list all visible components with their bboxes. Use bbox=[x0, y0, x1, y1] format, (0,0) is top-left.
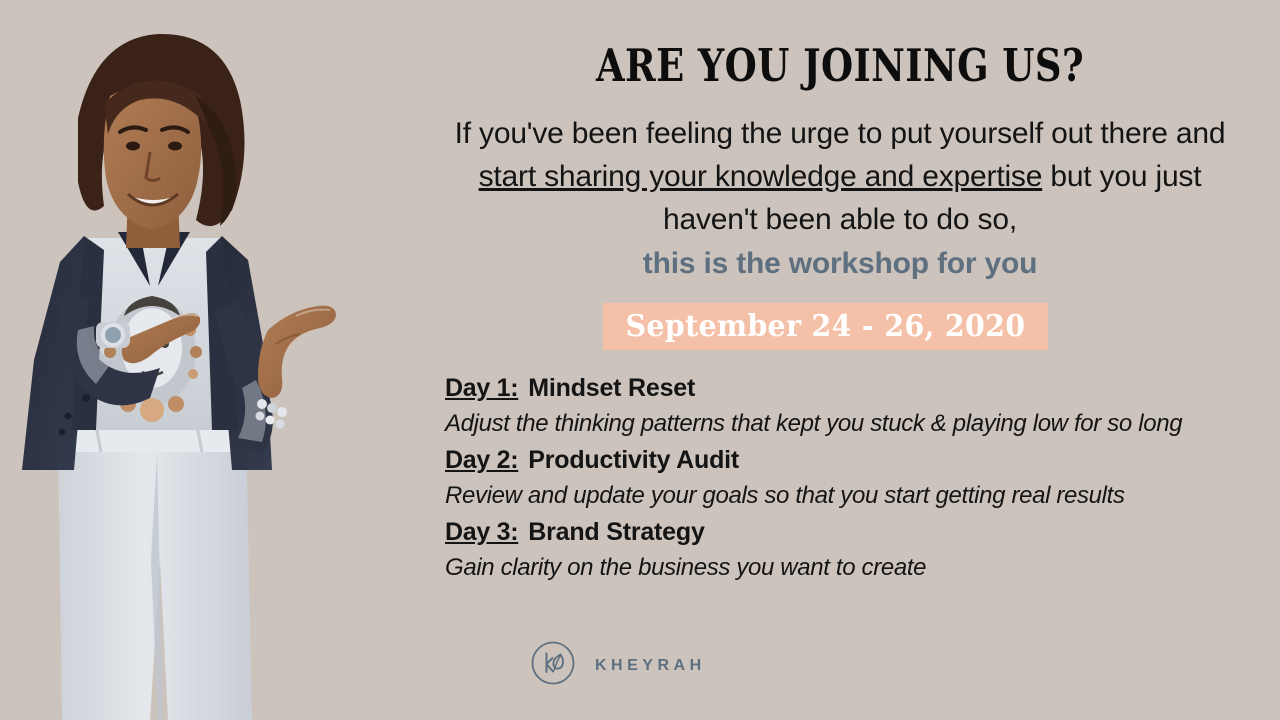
agenda-day-label: Day 2: bbox=[445, 446, 518, 474]
slide-content: ARE YOU JOINING US? If you've been feeli… bbox=[400, 0, 1280, 720]
intro-text-part1: If you've been feeling the urge to put y… bbox=[455, 117, 1226, 150]
date-banner-text: September 24 - 26, 2020 bbox=[626, 309, 1026, 344]
speaker-photo-illustration bbox=[0, 0, 400, 720]
agenda-day2-description: Review and update your goals so that you… bbox=[445, 478, 1280, 514]
agenda-day-title: Brand Strategy bbox=[528, 518, 704, 546]
page-title: ARE YOU JOINING US? bbox=[479, 42, 1201, 89]
promo-slide: ARE YOU JOINING US? If you've been feeli… bbox=[0, 0, 1280, 720]
date-banner: September 24 - 26, 2020 bbox=[603, 303, 1048, 350]
agenda-day-label: Day 1: bbox=[445, 374, 518, 402]
agenda-day1-description: Adjust the thinking patterns that kept y… bbox=[445, 406, 1280, 442]
brand-wordmark: KHEYRAH bbox=[595, 657, 706, 675]
intro-paragraph: If you've been feeling the urge to put y… bbox=[428, 112, 1252, 285]
agenda-list: Day 1:Mindset Reset Adjust the thinking … bbox=[445, 370, 1280, 586]
intro-highlight: this is the workshop for you bbox=[428, 242, 1252, 285]
speaker-photo bbox=[0, 0, 400, 720]
agenda-day3-description: Gain clarity on the business you want to… bbox=[445, 550, 1280, 586]
agenda-item-day3: Day 3:Brand Strategy bbox=[445, 514, 1280, 550]
agenda-day-title: Productivity Audit bbox=[528, 446, 739, 474]
intro-text-underlined: start sharing your knowledge and experti… bbox=[479, 160, 1043, 193]
kheyrah-leaf-monogram-icon bbox=[530, 640, 576, 691]
agenda-item-day1: Day 1:Mindset Reset bbox=[445, 370, 1280, 406]
agenda-item-day2: Day 2:Productivity Audit bbox=[445, 442, 1280, 478]
agenda-day-label: Day 3: bbox=[445, 518, 518, 546]
brand-logo: KHEYRAH bbox=[530, 640, 706, 691]
agenda-day-title: Mindset Reset bbox=[528, 374, 695, 402]
